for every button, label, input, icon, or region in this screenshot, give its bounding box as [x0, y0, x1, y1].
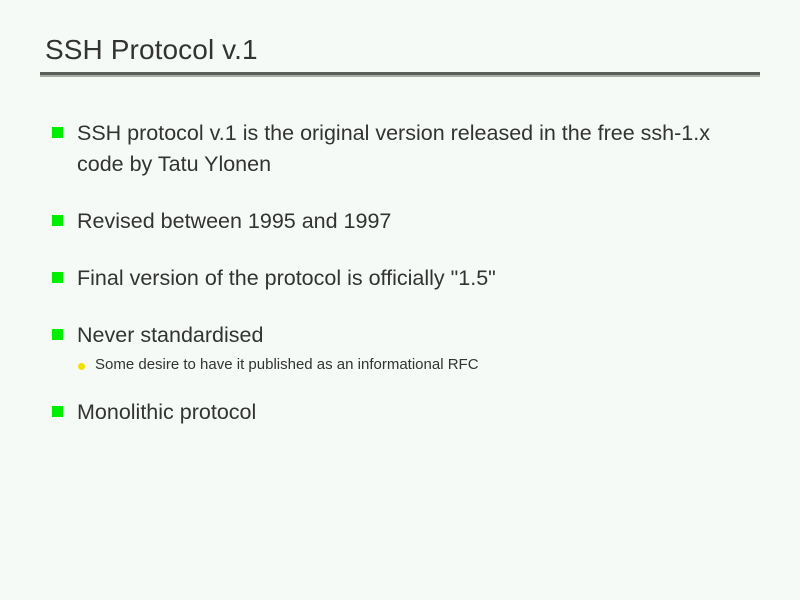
list-item-label: Revised between 1995 and 1997: [77, 206, 391, 237]
page-title: SSH Protocol v.1: [40, 33, 760, 67]
green-square-bullet-icon: [52, 329, 63, 340]
list-item: Final version of the protocol is officia…: [52, 263, 752, 294]
list-item: SSH protocol v.1 is the original version…: [52, 118, 752, 180]
green-square-bullet-icon: [52, 215, 63, 226]
list-item: Monolithic protocol: [52, 397, 752, 428]
title-divider: [40, 72, 760, 77]
slide-body: SSH protocol v.1 is the original version…: [52, 118, 752, 454]
sub-list-item: Some desire to have it published as an i…: [78, 355, 752, 375]
yellow-dot-bullet-icon: [78, 363, 85, 370]
list-item: Never standardised: [52, 320, 752, 351]
green-square-bullet-icon: [52, 406, 63, 417]
green-square-bullet-icon: [52, 127, 63, 138]
presentation-slide: SSH Protocol v.1 SSH protocol v.1 is the…: [0, 0, 800, 600]
list-item: Revised between 1995 and 1997: [52, 206, 752, 237]
list-item-label: Final version of the protocol is officia…: [77, 263, 496, 294]
green-square-bullet-icon: [52, 272, 63, 283]
list-item-label: SSH protocol v.1 is the original version…: [77, 118, 722, 180]
slide-title-block: SSH Protocol v.1: [40, 33, 760, 77]
list-item-label: Never standardised: [77, 320, 263, 351]
sub-list-item-label: Some desire to have it published as an i…: [95, 355, 479, 375]
list-item-label: Monolithic protocol: [77, 397, 256, 428]
